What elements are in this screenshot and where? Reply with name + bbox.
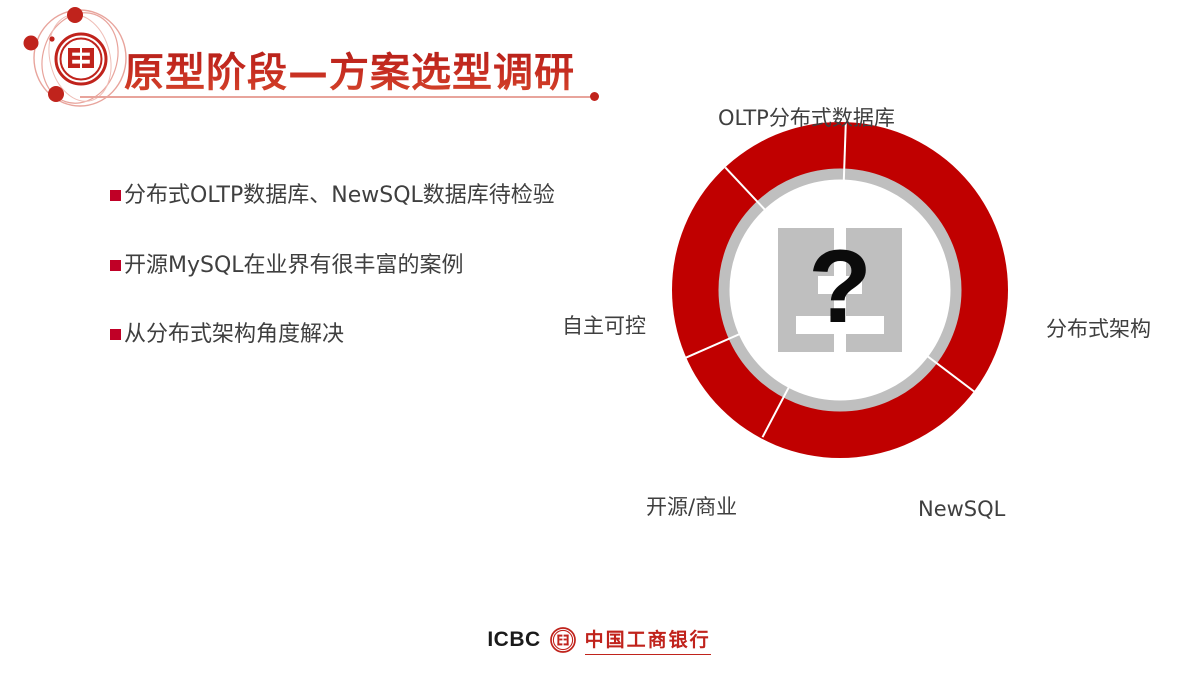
icbc-logo-title-icon: [56, 34, 106, 84]
donut-label-newsql: NewSQL: [918, 497, 1005, 521]
donut-chart: ?: [640, 90, 1040, 490]
page-title: 原型阶段—方案选型调研: [124, 40, 575, 98]
bullet-square-icon: [110, 190, 121, 201]
slide-title-block: 原型阶段—方案选型调研: [0, 0, 640, 120]
bullet-square-icon: [110, 329, 121, 340]
icbc-circle-logo-icon: [550, 627, 576, 653]
donut-label-oltp: OLTP分布式数据库: [718, 102, 895, 132]
donut-chart-svg: [640, 90, 1040, 490]
bullet-list: 分布式OLTP数据库、NewSQL数据库待检验 开源MySQL在业界有很丰富的案…: [110, 182, 630, 391]
bullet-text: 开源MySQL在业界有很丰富的案例: [124, 252, 464, 280]
footer-brand: ICBC 中国工商银行: [0, 625, 1198, 655]
orbit-decoration-icon: [18, 6, 130, 110]
donut-label-distributed-arch: 分布式架构: [1046, 313, 1151, 343]
list-item: 开源MySQL在业界有很丰富的案例: [110, 252, 630, 280]
bullet-text: 分布式OLTP数据库、NewSQL数据库待检验: [124, 182, 555, 210]
footer-icbc-latin: ICBC: [487, 628, 540, 652]
footer-icbc-chinese: 中国工商银行: [585, 625, 711, 655]
list-item: 分布式OLTP数据库、NewSQL数据库待检验: [110, 182, 630, 210]
slide-canvas: 原型阶段—方案选型调研 分布式OLTP数据库、NewSQL数据库待检验 开源My…: [0, 0, 1198, 673]
bullet-square-icon: [110, 260, 121, 271]
list-item: 从分布式架构角度解决: [110, 321, 630, 349]
title-end-dot-icon: [590, 92, 599, 101]
donut-label-self-controllable: 自主可控: [562, 310, 646, 340]
donut-label-opensource-commercial: 开源/商业: [646, 491, 737, 521]
bullet-text: 从分布式架构角度解决: [124, 321, 344, 349]
